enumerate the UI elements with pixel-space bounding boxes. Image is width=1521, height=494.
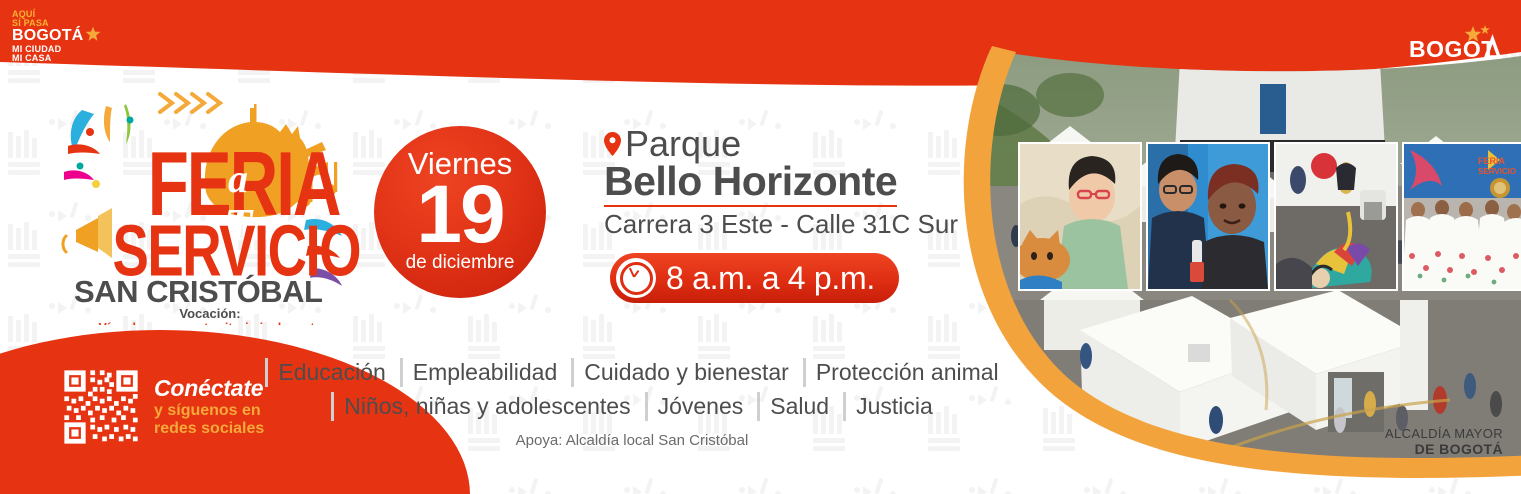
category-item: Salud (757, 392, 829, 421)
map-pin-icon (604, 132, 621, 156)
bogota-wordmark: BOGOT (1407, 24, 1503, 64)
venue-address: Carrera 3 Este - Calle 31C Sur (604, 210, 958, 239)
service-categories: Educación Empleabilidad Cuidado y bienes… (312, 358, 952, 426)
category-row-1: Educación Empleabilidad Cuidado y bienes… (312, 358, 952, 387)
event-banner: AQUÍ SÍ PASA BOGOTÁ MI CIUDAD MI CASA BO… (0, 0, 1521, 494)
connect-sub-line2: redes sociales (154, 420, 264, 438)
support-note: Apoya: Alcaldía local San Cristóbal (312, 432, 952, 449)
inset-photo-veterinary (1018, 142, 1142, 291)
event-date-badge: Viernes 19 de diciembre (374, 126, 546, 298)
category-row-2: Niños, niñas y adolescentes Jóvenes Salu… (312, 392, 952, 421)
photo-collage: FERIA SERVICIO (930, 0, 1521, 494)
qr-code-icon[interactable] (62, 368, 140, 446)
megaphone-icon (63, 208, 112, 258)
category-item: Empleabilidad (400, 358, 557, 387)
venue-kind: Parque (625, 126, 741, 162)
star-icon (85, 26, 101, 42)
logo-locality: SAN CRISTÓBAL (74, 273, 322, 309)
clock-icon (616, 258, 656, 298)
inset-photo-dancers: FERIA SERVICIO (1402, 142, 1521, 291)
aqui-si-pasa-bogota-logo: AQUÍ SÍ PASA BOGOTÁ MI CIUDAD MI CASA (12, 10, 101, 63)
event-time-badge: 8 a.m. a 4 p.m. (610, 253, 899, 303)
category-item: Justicia (843, 392, 933, 421)
inset-photo-clown (1274, 142, 1398, 291)
date-month: de diciembre (406, 253, 515, 272)
logo-word-a: a (228, 156, 248, 201)
category-item: Protección animal (803, 358, 999, 387)
category-item: Niños, niñas y adolescentes (331, 392, 630, 421)
category-item: Educación (265, 358, 385, 387)
svg-text:BOGOT: BOGOT (1409, 36, 1496, 62)
venue-name: Bello Horizonte (604, 160, 897, 207)
aqui-line-5: MI CASA (12, 54, 101, 63)
feria-a-tu-servicio-logo: FERIA a Tu SERVICIO SAN CRISTÓBAL Vocaci… (60, 80, 360, 325)
category-item: Cuidado y bienestar (571, 358, 789, 387)
connect-text-group: Conéctate y síguenos en redes sociales (154, 376, 264, 438)
logo-vocation-label: Vocación: (179, 306, 240, 321)
social-connect-block: Conéctate y síguenos en redes sociales (62, 368, 264, 446)
inset-photo-vaccination (1146, 142, 1270, 291)
aqui-wordmark: BOGOTÁ (12, 28, 83, 44)
bogota-logo-top-right: BOGOT (1407, 24, 1503, 69)
connect-sub-line1: y síguenos en (154, 402, 264, 420)
inset-photo-strip: FERIA SERVICIO (1018, 142, 1521, 287)
category-item: Jóvenes (645, 392, 744, 421)
event-time-text: 8 a.m. a 4 p.m. (666, 260, 875, 297)
alcaldia-line1: ALCALDÍA MAYOR (1385, 426, 1503, 441)
logo-vocation-text: Vínculos sanos y territorio incluyente (99, 321, 322, 325)
connect-title: Conéctate (154, 376, 264, 402)
alcaldia-footer-brand: ALCALDÍA MAYOR DE BOGOTÁ (1385, 426, 1503, 458)
venue-block: Parque Bello Horizonte Carrera 3 Este - … (604, 126, 958, 239)
alcaldia-line2: DE BOGOTÁ (1385, 441, 1503, 458)
date-day: 19 (416, 179, 503, 251)
svg-text:FERIA: FERIA (1478, 156, 1506, 166)
svg-text:SERVICIO: SERVICIO (1478, 167, 1516, 176)
